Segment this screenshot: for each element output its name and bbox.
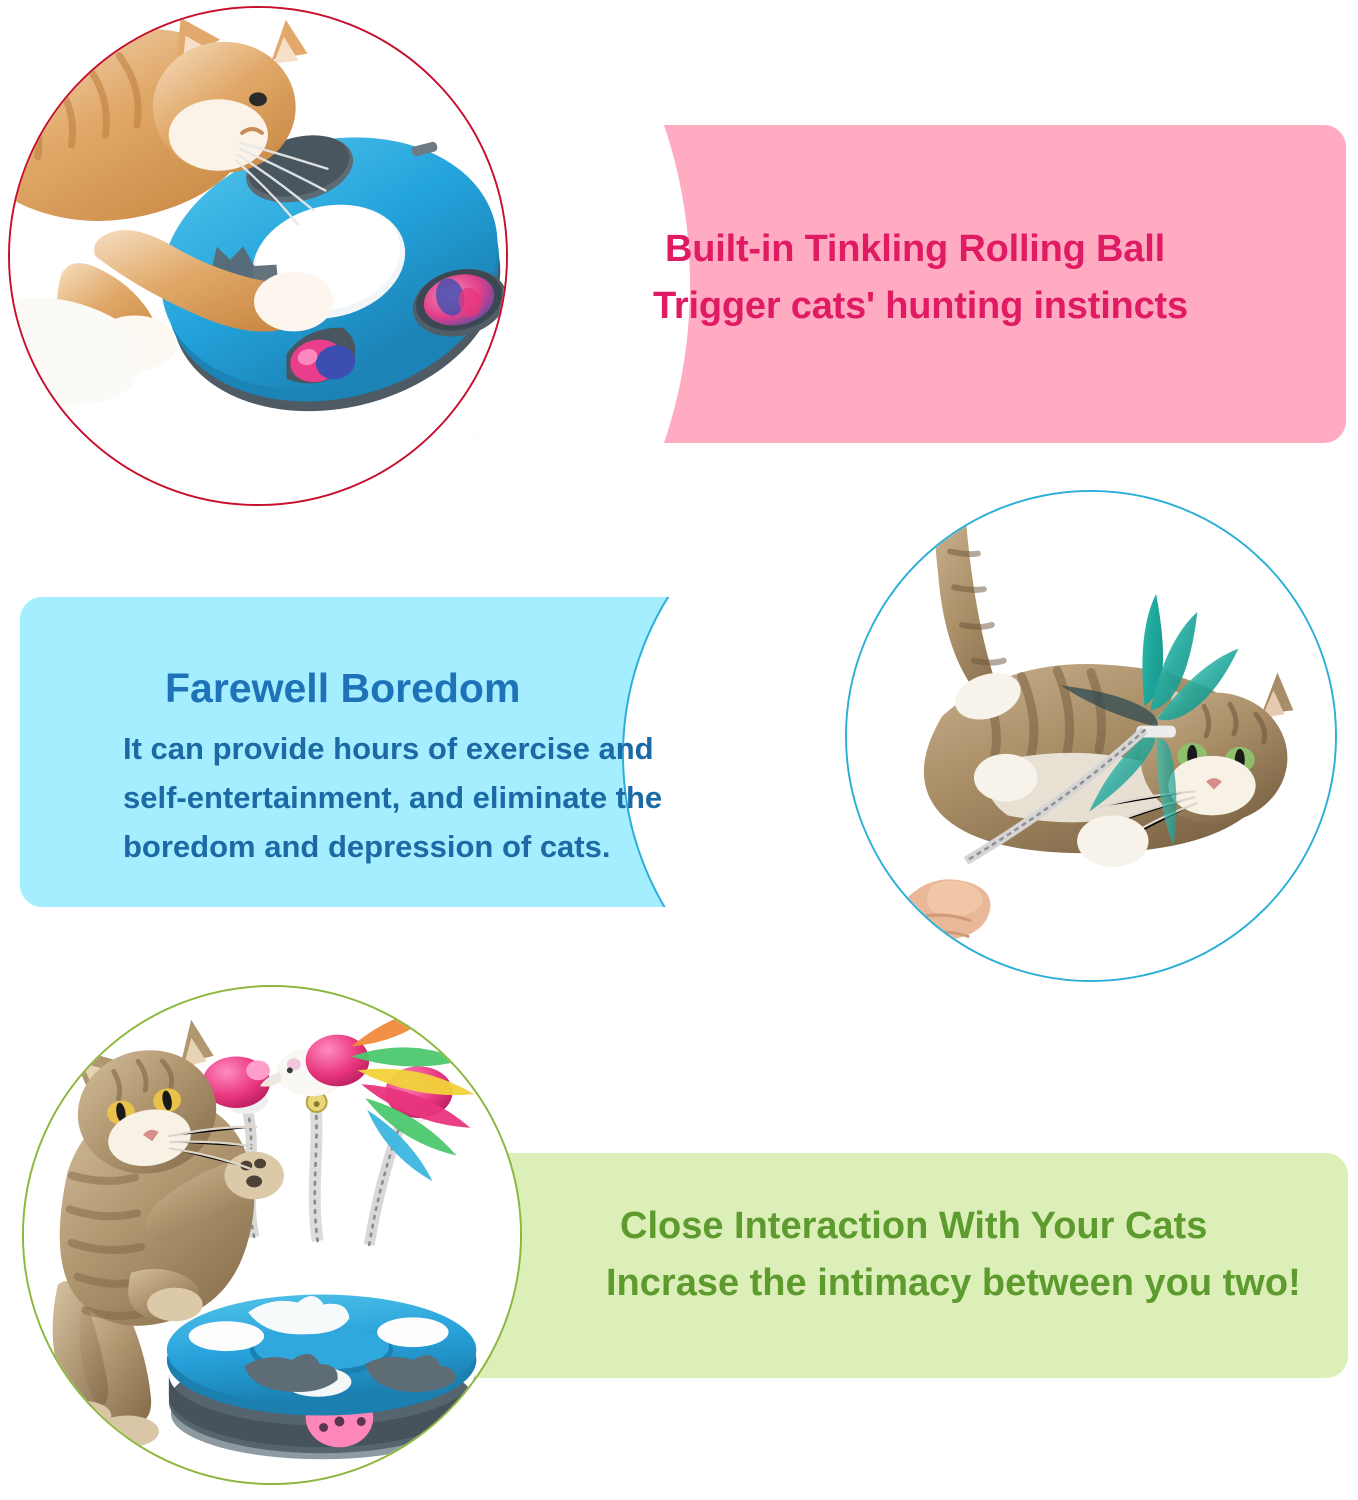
kitten-track-toy-illustration	[10, 8, 506, 504]
photo-cat-with-spring-toys	[22, 985, 522, 1485]
infographic-root: Built-in Tinkling Rolling Ball Trigger c…	[0, 0, 1358, 1500]
farewell-boredom-title: Farewell Boredom	[165, 665, 520, 712]
close-interaction-headline-line1: Close Interaction With Your Cats	[620, 1205, 1207, 1248]
farewell-boredom-body-line1: It can provide hours of exercise and	[123, 731, 654, 767]
photo-kitten-with-track-toy	[8, 6, 508, 506]
rolling-ball-headline-line2: Trigger cats' hunting instincts	[653, 285, 1188, 328]
close-interaction-headline-line2: Incrase the intimacy between you two!	[606, 1262, 1301, 1305]
photo-cat-with-feather-wand	[845, 490, 1337, 982]
farewell-boredom-body-line2: self-entertainment, and eliminate the	[123, 780, 662, 816]
cat-spring-toys-illustration	[24, 987, 520, 1483]
feature-panel-farewell-boredom: Farewell Boredom It can provide hours of…	[20, 597, 870, 907]
rolling-ball-headline-line1: Built-in Tinkling Rolling Ball	[665, 228, 1165, 271]
feature-panel-rolling-ball: Built-in Tinkling Rolling Ball Trigger c…	[470, 125, 1346, 443]
panel-concave-cutout	[622, 597, 870, 907]
farewell-boredom-body-line3: boredom and depression of cats.	[123, 829, 610, 865]
cat-feather-wand-illustration	[847, 492, 1335, 980]
